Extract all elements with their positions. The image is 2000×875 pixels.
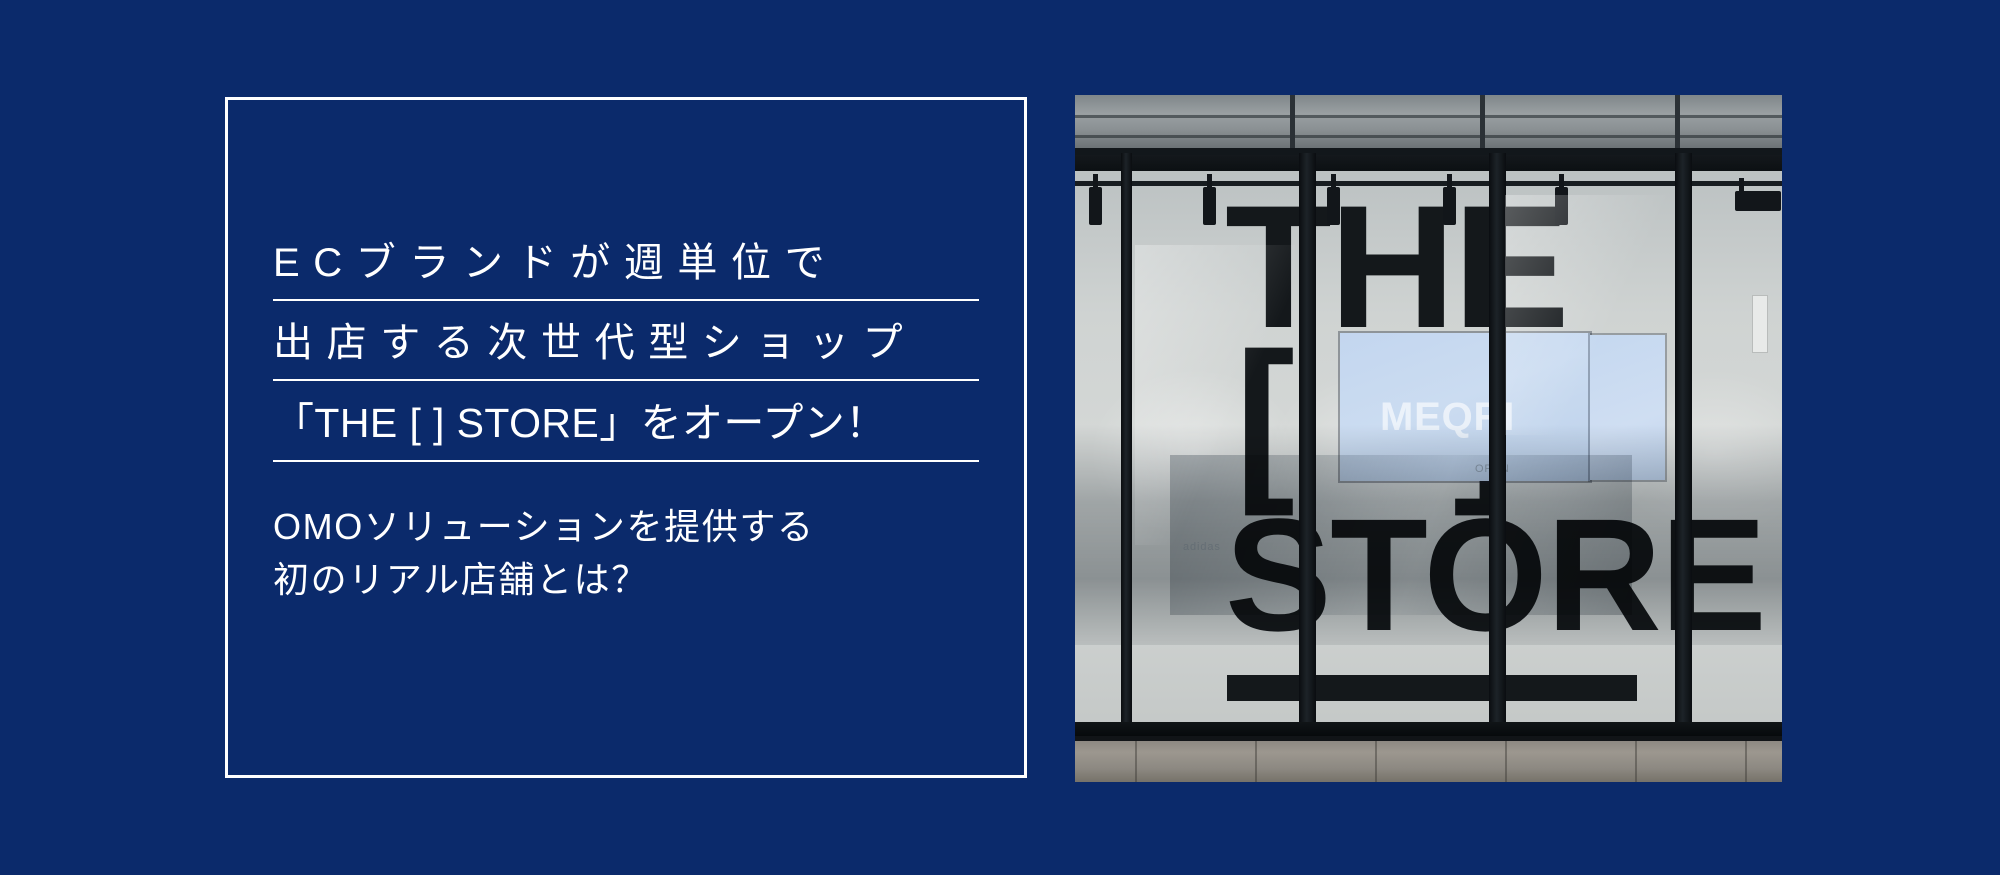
- subtitle-line-1: OMOソリューションを提供する: [273, 500, 979, 553]
- track-light-icon: [1203, 187, 1216, 225]
- page-canvas: ECブランドが週単位で 出店する次世代型ショップ 「THE [ ] STORE」…: [0, 0, 2000, 875]
- storefront-photo: THE [ ] STORE MEQRI adidas OPEN: [1075, 95, 1782, 782]
- pavement-seam: [1505, 741, 1507, 782]
- track-light-icon: [1327, 187, 1340, 225]
- pavement-seam: [1135, 741, 1137, 782]
- track-light-icon: [1443, 187, 1456, 225]
- pavement-seam: [1255, 741, 1257, 782]
- pavement-seam: [1635, 741, 1637, 782]
- decal-adidas: adidas: [1183, 541, 1221, 553]
- headline-line-1: ECブランドが週単位で: [273, 243, 979, 301]
- window-mullion: [1489, 153, 1506, 738]
- headline-panel: ECブランドが週単位で 出店する次世代型ショップ 「THE [ ] STORE」…: [225, 97, 1027, 778]
- subtitle-group: OMOソリューションを提供する 初のリアル店舗とは？: [228, 500, 1024, 607]
- photo-scene: THE [ ] STORE MEQRI adidas OPEN: [1075, 95, 1782, 782]
- pavement-seam: [1745, 741, 1747, 782]
- window-mullion: [1121, 153, 1132, 738]
- glass-canopy: [1075, 95, 1782, 157]
- pavement: [1075, 736, 1782, 782]
- headline-group: ECブランドが週単位で 出店する次世代型ショップ 「THE [ ] STORE」…: [228, 243, 1024, 484]
- headline-line-3: 「THE [ ] STORE」をオープン！: [273, 403, 979, 462]
- pavement-seam: [1375, 741, 1377, 782]
- headline-line-2: 出店する次世代型ショップ: [273, 323, 979, 381]
- track-light-icon: [1735, 191, 1781, 211]
- window-mullion: [1299, 153, 1316, 738]
- wall-sign: [1752, 295, 1768, 353]
- track-light-icon: [1555, 187, 1568, 225]
- canopy-rib: [1480, 95, 1485, 157]
- base-kick-rail: [1075, 722, 1782, 736]
- canopy-rib: [1290, 95, 1295, 157]
- track-light-icon: [1089, 187, 1102, 225]
- subtitle-line-2: 初のリアル店舗とは？: [273, 553, 979, 606]
- canopy-rib: [1675, 95, 1680, 157]
- window-mullion: [1675, 153, 1692, 738]
- glass-reflection-secondary: [1170, 455, 1632, 615]
